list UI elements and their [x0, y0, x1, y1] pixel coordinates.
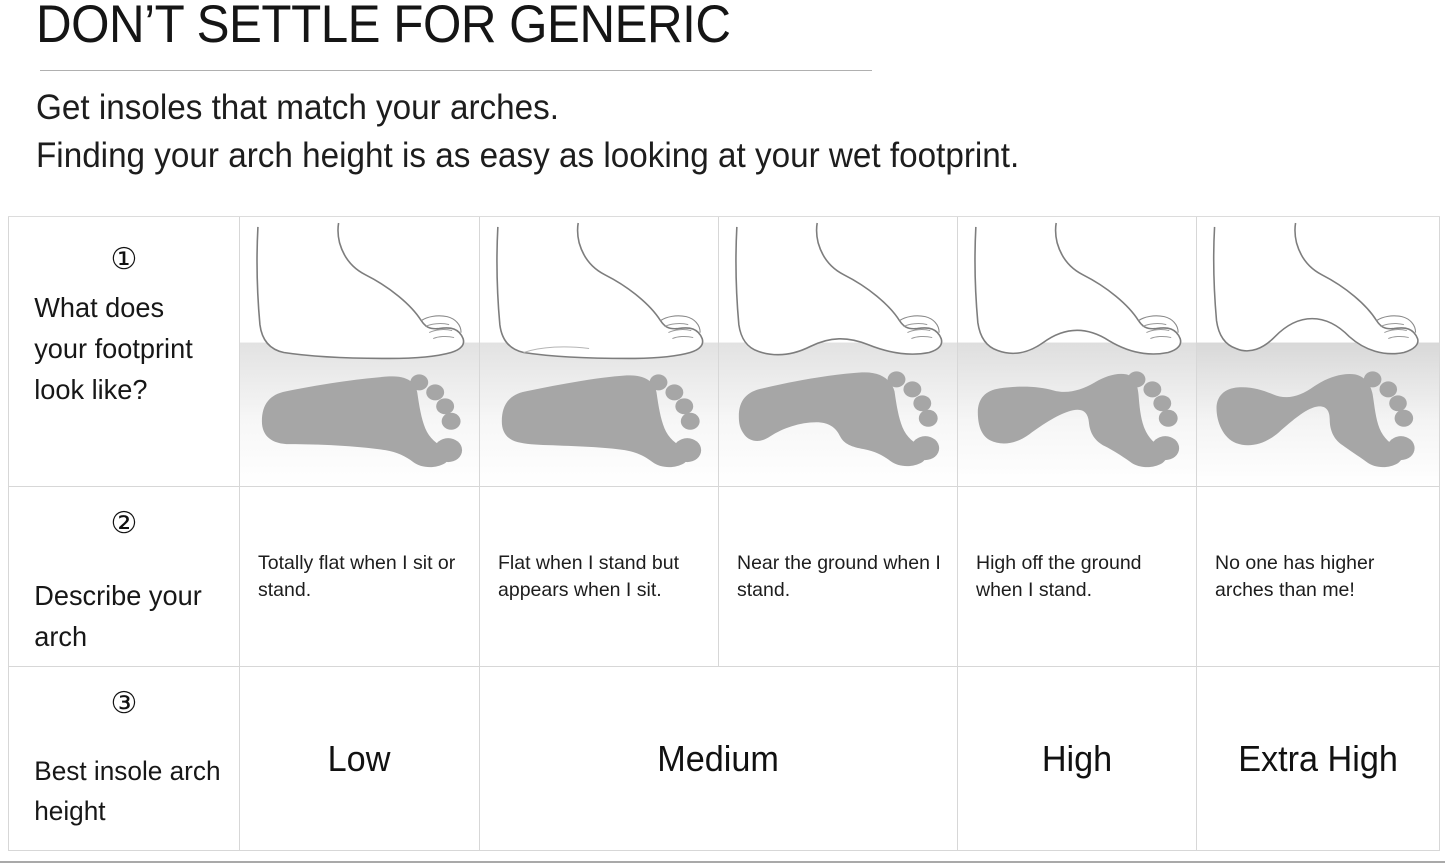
medium-arch-footprint — [719, 217, 957, 486]
footer-divider — [0, 861, 1445, 863]
row-label-text-1: What does your footprint look like? — [9, 287, 232, 410]
footprint-cell-low — [480, 217, 719, 487]
arch-height-cell-extra-high: Extra High — [1197, 667, 1440, 851]
subtitle-line-1: Get insoles that match your arches. — [36, 84, 1019, 132]
description-text: Totally flat when I sit or stand. — [258, 550, 463, 604]
step-1-badge: ① — [9, 243, 239, 277]
description-text: Near the ground when I stand. — [737, 550, 941, 604]
subtitle-line-2: Finding your arch height is as easy as l… — [36, 132, 1019, 180]
description-cell-medium: Near the ground when I stand. — [719, 487, 958, 667]
medium-arch-footprint-icon — [719, 217, 957, 486]
arch-height-cell-high: High — [958, 667, 1197, 851]
footprint-cell-flat — [240, 217, 480, 487]
description-text: Flat when I stand but appears when I sit… — [498, 550, 702, 604]
low-arch-footprint — [480, 217, 718, 486]
high-arch-footprint-icon — [958, 217, 1196, 486]
page-title: DON’T SETTLE FOR GENERIC — [36, 0, 731, 56]
footprint-cell-high — [958, 217, 1197, 487]
step-3-badge: ③ — [9, 687, 239, 721]
description-cell-flat: Totally flat when I sit or stand. — [240, 487, 480, 667]
row-label-text-3: Best insole arch height — [9, 751, 232, 831]
arch-height-cell-medium: Medium — [480, 667, 958, 851]
description-cell-low: Flat when I stand but appears when I sit… — [480, 487, 719, 667]
page-subtitle: Get insoles that match your arches. Find… — [36, 84, 1019, 180]
row-label-best-insole: ③ Best insole arch height — [8, 667, 240, 851]
arch-height-label: Low — [328, 738, 391, 780]
flat-arch-footprint-icon — [240, 217, 479, 486]
row-label-describe-arch: ② Describe your arch — [8, 487, 240, 667]
footprint-cell-extra-high — [1197, 217, 1440, 487]
high-arch-footprint — [958, 217, 1196, 486]
arch-height-label: Extra High — [1238, 738, 1398, 780]
step-2-badge: ② — [9, 507, 239, 541]
arch-height-label: High — [1042, 738, 1112, 780]
arch-height-label: Medium — [658, 738, 780, 780]
description-cell-high: High off the ground when I stand. — [958, 487, 1197, 667]
title-divider — [40, 70, 872, 71]
arch-height-guide-table: ① What does your footprint look like? — [8, 216, 1440, 850]
extra-high-arch-footprint-icon — [1197, 217, 1439, 486]
description-text: No one has higher arches than me! — [1215, 550, 1423, 604]
flat-arch-footprint — [240, 217, 479, 486]
row-label-footprint: ① What does your footprint look like? — [8, 217, 240, 487]
low-arch-footprint-icon — [480, 217, 718, 486]
footprint-cell-medium — [719, 217, 958, 487]
description-text: High off the ground when I stand. — [976, 550, 1180, 604]
extra-high-arch-footprint — [1197, 217, 1439, 486]
row-label-text-2: Describe your arch — [9, 575, 232, 657]
arch-height-cell-low: Low — [240, 667, 480, 851]
description-cell-extra-high: No one has higher arches than me! — [1197, 487, 1440, 667]
